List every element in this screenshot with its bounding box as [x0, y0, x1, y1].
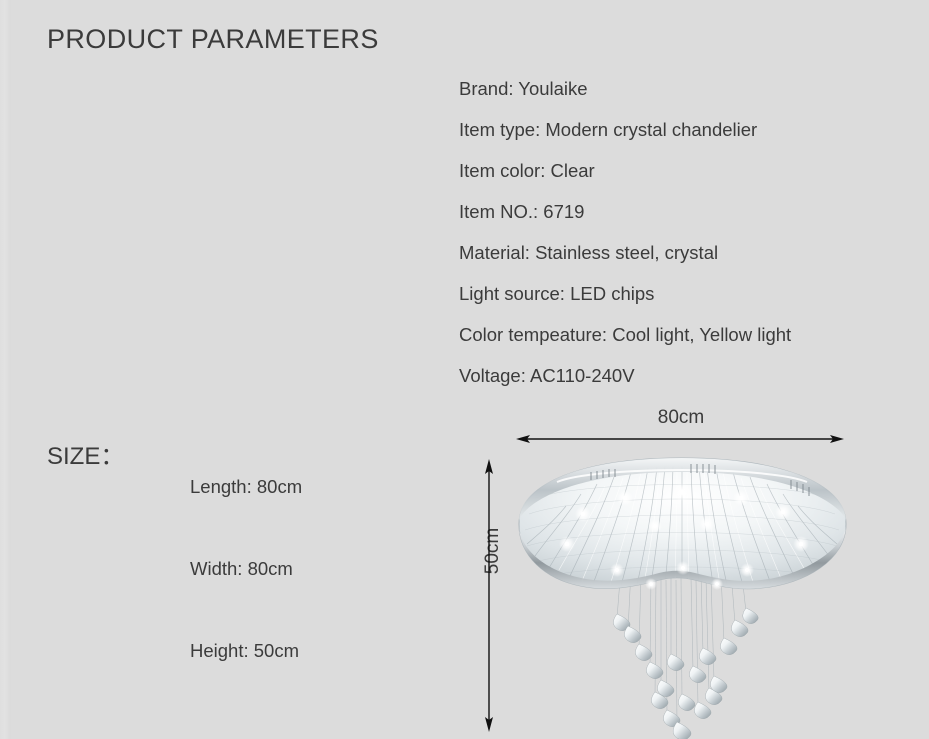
crystal-drops	[613, 608, 758, 739]
height-dimension-arrow-icon	[478, 458, 500, 733]
spec-row-item-color: Item color: Clear	[459, 150, 909, 191]
spec-row-voltage: Voltage: AC110-240V	[459, 355, 909, 396]
size-heading: SIZE：	[47, 436, 124, 471]
spec-row-light-source: Light source: LED chips	[459, 273, 909, 314]
width-dimension-arrow-icon	[514, 428, 846, 450]
left-edge-band	[0, 0, 11, 739]
spec-row-color-temperature: Color tempeature: Cool light, Yellow lig…	[459, 314, 909, 355]
page-title: PRODUCT PARAMETERS	[47, 24, 379, 55]
crystal-chandelier-image	[505, 452, 860, 739]
size-row-length: Length: 80cm	[190, 477, 440, 559]
spec-row-item-type: Item type: Modern crystal chandelier	[459, 109, 909, 150]
width-dimension-label: 80cm	[518, 407, 844, 429]
spec-row-material: Material: Stainless steel, crystal	[459, 232, 909, 273]
product-parameters-list: Brand: Youlaike Item type: Modern crysta…	[459, 68, 909, 396]
size-list: Length: 80cm Width: 80cm Height: 50cm	[190, 477, 440, 723]
size-row-width: Width: 80cm	[190, 559, 440, 641]
size-row-height: Height: 50cm	[190, 641, 440, 723]
spec-row-brand: Brand: Youlaike	[459, 68, 909, 109]
spec-row-item-no: Item NO.: 6719	[459, 191, 909, 232]
